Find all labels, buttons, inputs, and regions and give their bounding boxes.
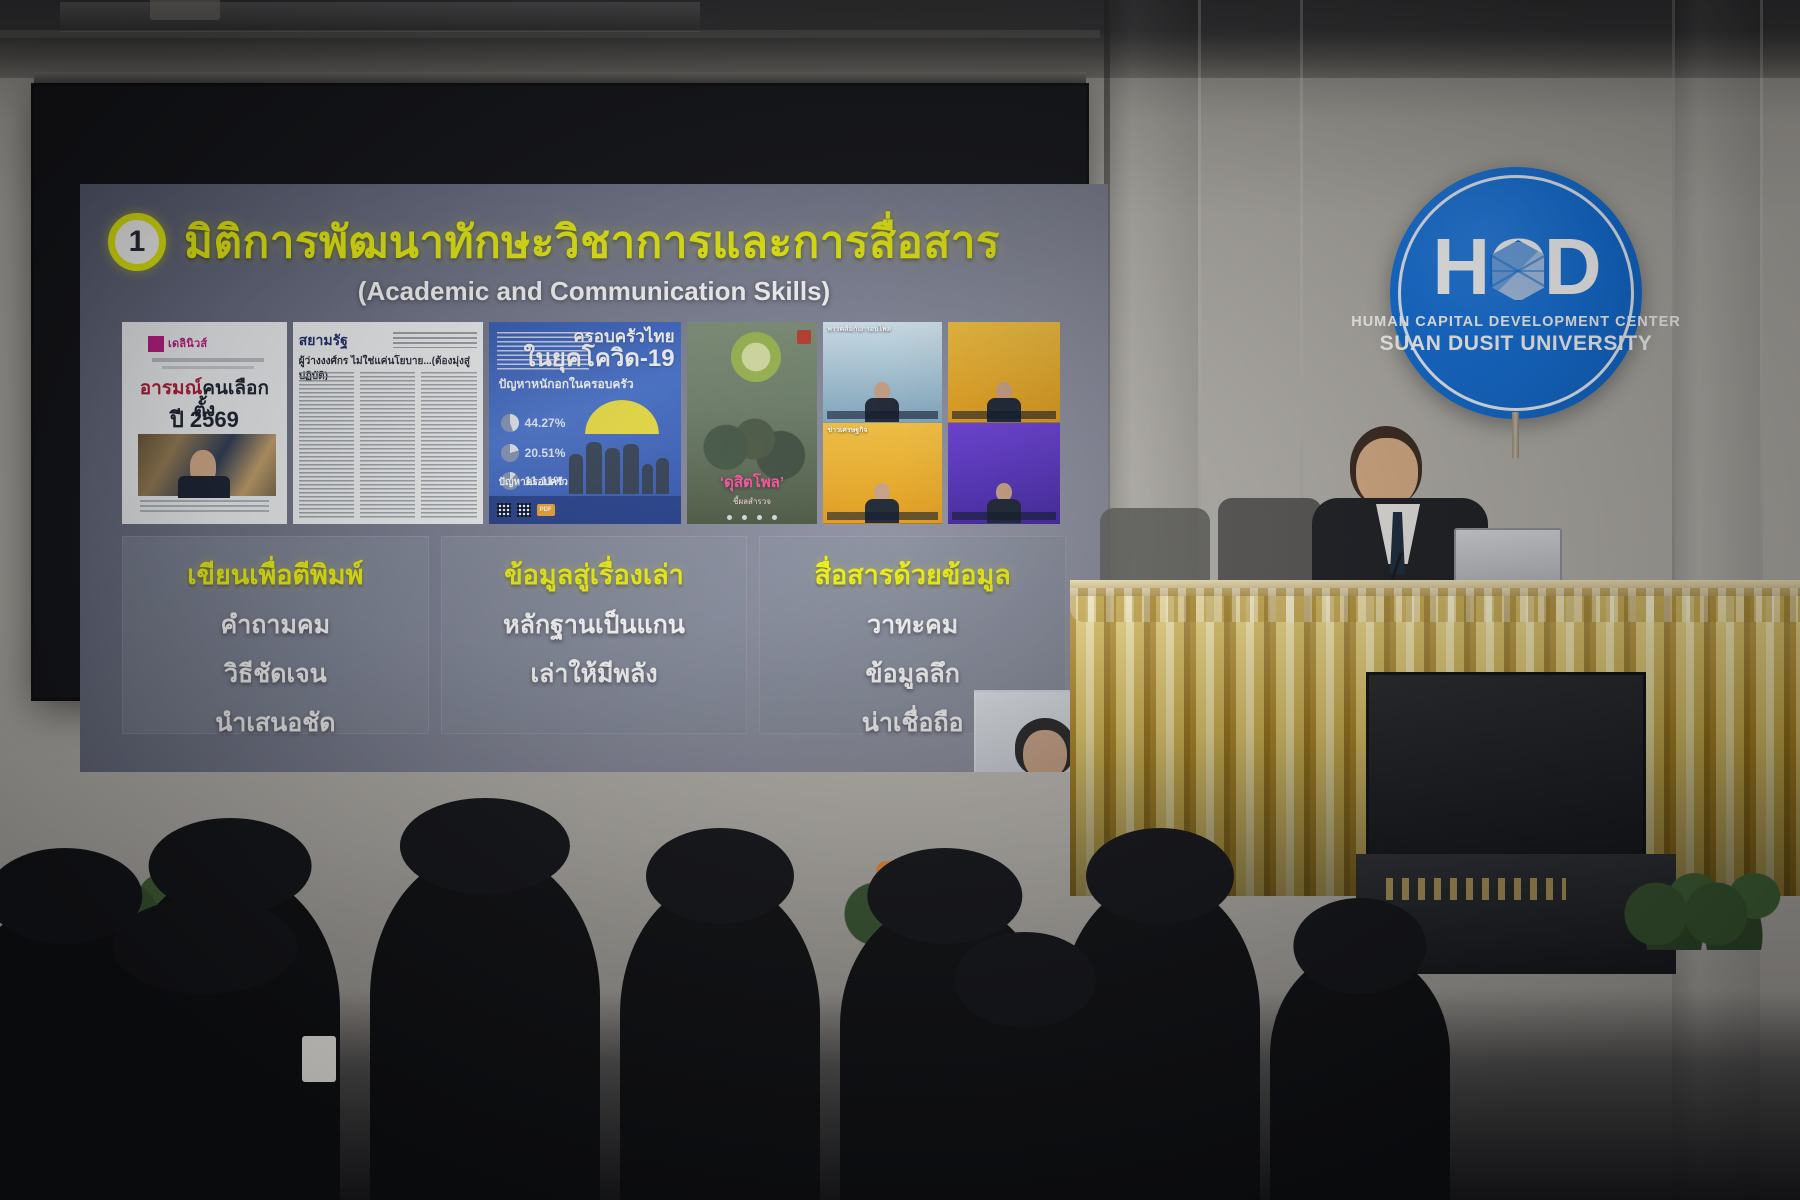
- infographic-stat: 44.27%: [501, 414, 566, 432]
- hcd-logo-mark: HCD: [1432, 224, 1599, 310]
- slide-media-strip: เดลินิวส์ อารมณ์คนเลือกตั้ง ปี 2569 ส: [122, 322, 1066, 524]
- poll-subtitle: ชี้ผลสำรวจ: [687, 495, 818, 508]
- ceiling-band: [0, 0, 1800, 78]
- news-clipping-siamrath: สยามรัฐ ผู้ว่างงงศ์กร ไม่ใช่แค่นโยบาย...…: [293, 322, 483, 524]
- tv-frame: ข่าวเศรษฐกิจ: [823, 423, 941, 524]
- tv-news-column-1: พรรคส้มกับกรอบโพล ข่าวเศรษฐกิจ: [823, 322, 941, 524]
- name-badge: [302, 1036, 336, 1082]
- article-column: [360, 372, 415, 518]
- panel-title: เขียนเพื่อตีพิมพ์: [187, 553, 363, 596]
- hcd-university-name: SUAN DUSIT UNIVERSITY: [1380, 332, 1653, 356]
- sign-mounting-pole: [1512, 412, 1519, 458]
- masthead-rule: [152, 358, 264, 362]
- conference-photo-scene: 1 มิติการพัฒนาทักษะวิชาการและการสื่อสาร …: [0, 0, 1800, 1200]
- photo-dusit-poll: ‘ดุสิตโพล’ ชี้ผลสำรวจ: [687, 322, 818, 524]
- donut-icon: [501, 414, 519, 432]
- stage-plants: [1620, 810, 1800, 950]
- carousel-dot: [742, 515, 747, 520]
- newspaper-masthead: เดลินิวส์: [148, 336, 268, 352]
- hcd-logo-sign: HCD HUMAN CAPITAL DEVELOPMENT CENTER SUA…: [1390, 167, 1642, 419]
- audience-foreground: [0, 640, 1800, 1200]
- potted-plant: [1680, 830, 1800, 950]
- audience-silhouette: [930, 984, 1120, 1200]
- qr-code-icon: [517, 503, 531, 517]
- university-seal-icon: [731, 332, 781, 382]
- tv-stack: พรรคส้มกับกรอบโพล ข่าวเศรษฐกิจ: [823, 322, 941, 524]
- head-table-swag-trim: [1070, 588, 1800, 622]
- infographic-title-line2: ในยุคโควิด-19: [524, 346, 675, 372]
- person-silhouette: [569, 454, 583, 494]
- person-silhouette: [623, 444, 639, 494]
- infographic-section-1: ปัญหาหนักอกในครอบครัว: [499, 378, 634, 392]
- projection-screen: 1 มิติการพัฒนาทักษะวิชาการและการสื่อสาร …: [34, 86, 1086, 698]
- slide-title: มิติการพัฒนาทักษะวิชาการและการสื่อสาร: [184, 207, 1000, 277]
- umbrella-icon: [585, 400, 659, 434]
- audience-silhouette: [370, 850, 600, 1200]
- tv-lower-third: [827, 411, 937, 419]
- headline-red: อารมณ์: [140, 378, 202, 399]
- pdf-icon: PDF: [537, 504, 555, 516]
- tv-frame: [948, 322, 1060, 423]
- photo-suit: [178, 476, 230, 498]
- carousel-dot: [757, 515, 762, 520]
- stat-value: 20.51%: [525, 446, 566, 460]
- ceiling-edge-trim: [0, 30, 1100, 38]
- infographic-title-line1: ครอบครัวไทย: [524, 328, 675, 346]
- laptop-screen: [1454, 528, 1562, 586]
- audience-silhouette: [620, 880, 820, 1200]
- infographic-stat: 20.51%: [501, 444, 566, 462]
- newspaper-photo: [138, 434, 276, 496]
- audience-silhouette: [80, 950, 330, 1200]
- stat-value: 44.27%: [525, 416, 566, 430]
- article-column: [421, 372, 476, 518]
- tv-headline: พรรคส้มกับกรอบโพล: [827, 326, 937, 334]
- donut-icon: [501, 444, 519, 462]
- tv-frame: [948, 423, 1060, 524]
- channel-tag-icon: [797, 330, 811, 344]
- infographic-title: ครอบครัวไทย ในยุคโควิด-19: [524, 328, 675, 372]
- panel-title: สื่อสารด้วยข้อมูล: [814, 553, 1010, 596]
- tv-stack: [948, 322, 1060, 524]
- qr-code-icon: [497, 503, 511, 517]
- hcd-center-name: HUMAN CAPITAL DEVELOPMENT CENTER: [1351, 314, 1681, 330]
- poll-title: ‘ดุสิตโพล’: [687, 470, 818, 494]
- panel-line: คำถามคม: [221, 605, 331, 645]
- tv-lower-third: [952, 411, 1056, 419]
- infographic-covid-family: ครอบครัวไทย ในยุคโควิด-19 ปัญหาหนักอกในค…: [489, 322, 681, 524]
- news-clipping-delinews: เดลินิวส์ อารมณ์คนเลือกตั้ง ปี 2569: [122, 322, 287, 524]
- masthead-text-lines: [393, 332, 477, 348]
- panel-line: หลักฐานเป็นแกน: [503, 605, 685, 645]
- infographic-footer-bar: PDF: [489, 496, 681, 524]
- article-columns: [299, 372, 477, 518]
- panel-title: ข้อมูลสู่เรื่องเล่า: [504, 553, 684, 596]
- audience-silhouette: [1270, 950, 1450, 1200]
- tv-headline: ข่าวเศรษฐกิจ: [827, 427, 937, 435]
- person-silhouette: [605, 448, 620, 494]
- slide-number-badge: 1: [108, 213, 166, 271]
- family-silhouettes: [569, 432, 673, 494]
- article-masthead: สยามรัฐ: [299, 330, 387, 348]
- tv-lower-third: [952, 512, 1056, 520]
- slide-subtitle: (Academic and Communication Skills): [80, 276, 1108, 307]
- article-column: [299, 372, 354, 518]
- photo-caption-lines: [140, 500, 269, 512]
- carousel-dot: [727, 515, 732, 520]
- masthead-rule-2: [162, 366, 254, 369]
- tv-news-column-2: [948, 322, 1060, 524]
- infographic-section-3: ปัญหาครอบครัว: [499, 475, 568, 490]
- ceiling-vent: [150, 0, 220, 20]
- carousel-dots: [687, 515, 818, 520]
- tv-lower-third: [827, 512, 937, 520]
- person-silhouette: [586, 442, 602, 494]
- slide-header: 1 มิติการพัฒนาทักษะวิชาการและการสื่อสาร: [108, 206, 1088, 278]
- person-silhouette: [656, 458, 669, 494]
- tv-frame: พรรคส้มกับกรอบโพล: [823, 322, 941, 423]
- carousel-dot: [772, 515, 777, 520]
- person-silhouette: [642, 464, 653, 494]
- panel-line: วาทะคม: [867, 605, 958, 645]
- headline-year: ปี 2569: [130, 402, 279, 437]
